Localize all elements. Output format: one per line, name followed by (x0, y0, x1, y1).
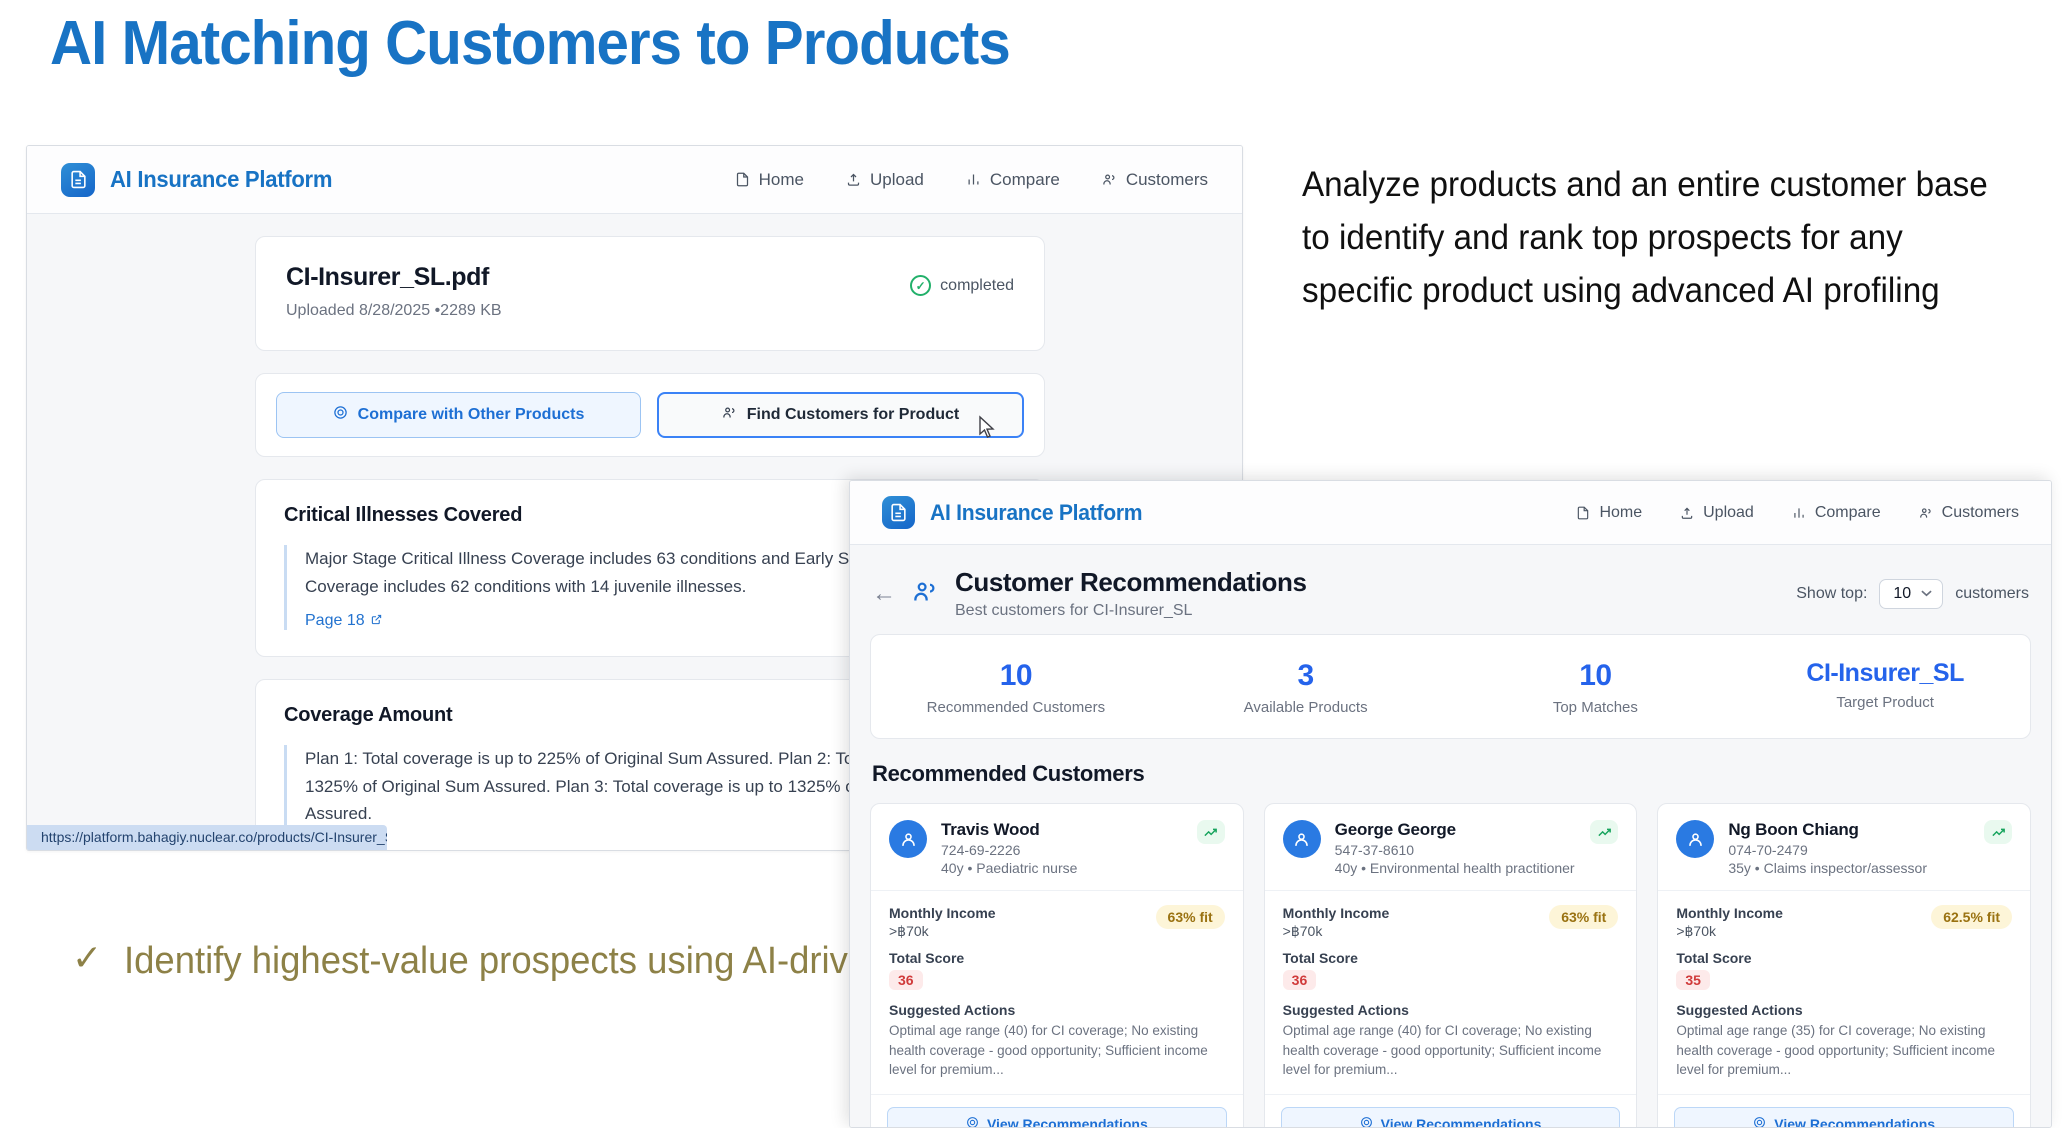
show-top-select[interactable]: 10 (1879, 579, 1943, 609)
mouse-cursor-icon (977, 415, 997, 441)
customer-name: Travis Wood (941, 820, 1183, 840)
compare-with-other-products-button[interactable]: Compare with Other Products (276, 392, 641, 438)
show-top-control: Show top: 10 customers (1796, 579, 2029, 609)
customer-metrics: Monthly Income >฿70k Total Score 36 63% … (1265, 891, 1637, 1002)
stat-value: 10 (1451, 659, 1741, 693)
customer-id: 724-69-2226 (941, 842, 1183, 858)
recommendations-body: ← Customer Recommendations Best customer… (850, 545, 2051, 1127)
app-logo-icon (882, 496, 915, 529)
suggested-actions-body: Optimal age range (35) for CI coverage; … (1676, 1021, 2012, 1080)
customer-name: Ng Boon Chiang (1728, 820, 1970, 840)
suggested-actions-body: Optimal age range (40) for CI coverage; … (1283, 1021, 1619, 1080)
view-recommendations-button[interactable]: View Recommendations (887, 1107, 1227, 1128)
nav-label: Compare (1815, 504, 1881, 522)
customer-identity: George George 547-37-8610 40y • Environm… (1335, 820, 1577, 876)
main-nav: Home Upload Compare Customers (1576, 504, 2019, 522)
score-value: 36 (889, 970, 923, 990)
view-button-label: View Recommendations (987, 1116, 1148, 1128)
customer-card-grid: Travis Wood 724-69-2226 40y • Paediatric… (870, 803, 2031, 1128)
brand[interactable]: AI Insurance Platform (882, 496, 1151, 529)
customer-card-buttons: View Recommendations Create Proposal (871, 1095, 1243, 1128)
customer-metrics: Monthly Income >฿70k Total Score 36 63% … (871, 891, 1243, 1002)
score-value: 35 (1676, 970, 1710, 990)
stat-label: Available Products (1161, 699, 1451, 716)
upload-icon (846, 172, 861, 187)
avatar (1283, 820, 1321, 858)
app-logo-icon (61, 163, 95, 197)
stat-available-products: 3 Available Products (1161, 659, 1451, 716)
customer-suggested-actions: Suggested Actions Optimal age range (40)… (871, 1002, 1243, 1095)
customer-description: 40y • Environmental health practitioner (1335, 860, 1577, 876)
section-title: Critical Illnesses Covered (284, 504, 522, 527)
target-icon (333, 405, 348, 425)
page-link-label: Page 18 (305, 612, 365, 630)
document-file-name: CI-Insurer_SL.pdf (286, 263, 502, 292)
stat-target-product: CI-Insurer_SL Target Product (1740, 659, 2030, 716)
nav-label: Compare (990, 170, 1060, 190)
stat-label: Recommended Customers (871, 699, 1161, 716)
customer-id: 074-70-2479 (1728, 842, 1970, 858)
document-summary-left: CI-Insurer_SL.pdf Uploaded 8/28/2025 •22… (286, 263, 502, 320)
nav-item-home[interactable]: Home (1576, 504, 1642, 522)
customer-card[interactable]: Ng Boon Chiang 074-70-2479 35y • Claims … (1657, 803, 2031, 1128)
upload-icon (1680, 506, 1694, 520)
nav-label: Upload (870, 170, 924, 190)
view-recommendations-button[interactable]: View Recommendations (1281, 1107, 1621, 1128)
slide-description: Analyze products and an entire customer … (1302, 158, 2005, 318)
customer-card-header: Ng Boon Chiang 074-70-2479 35y • Claims … (1658, 804, 2030, 891)
target-icon (1360, 1116, 1373, 1128)
customer-suggested-actions: Suggested Actions Optimal age range (35)… (1658, 1002, 2030, 1095)
fit-badge: 62.5% fit (1931, 905, 2012, 929)
recommendations-title: Customer Recommendations (955, 567, 1307, 598)
check-circle-icon: ✓ (910, 275, 931, 296)
target-icon (1753, 1116, 1766, 1128)
trend-up-icon (1197, 820, 1225, 844)
brand-name: AI Insurance Platform (110, 166, 332, 193)
stat-top-matches: 10 Top Matches (1451, 659, 1741, 716)
customer-card-header: Travis Wood 724-69-2226 40y • Paediatric… (871, 804, 1243, 891)
customer-identity: Ng Boon Chiang 074-70-2479 35y • Claims … (1728, 820, 1970, 876)
people-icon (722, 405, 737, 425)
stat-label: Top Matches (1451, 699, 1741, 716)
customer-card[interactable]: Travis Wood 724-69-2226 40y • Paediatric… (870, 803, 1244, 1128)
customer-identity: Travis Wood 724-69-2226 40y • Paediatric… (941, 820, 1183, 876)
check-icon: ✓ (72, 935, 102, 982)
suggested-actions-body: Optimal age range (40) for CI coverage; … (889, 1021, 1225, 1080)
document-icon (1576, 506, 1590, 520)
score-value: 36 (1283, 970, 1317, 990)
customer-name: George George (1335, 820, 1577, 840)
document-icon (735, 172, 750, 187)
browser-status-bar-url: https://platform.bahagiy.nuclear.co/prod… (27, 825, 387, 850)
document-summary-card: CI-Insurer_SL.pdf Uploaded 8/28/2025 •22… (255, 236, 1045, 351)
people-icon (1102, 172, 1117, 187)
nav-label: Upload (1703, 504, 1754, 522)
compare-button-label: Compare with Other Products (358, 406, 585, 424)
customer-card-buttons: View Recommendations Create Proposal (1658, 1095, 2030, 1128)
stat-value: CI-Insurer_SL (1740, 659, 2030, 688)
nav-item-compare[interactable]: Compare (1792, 504, 1881, 522)
recommendations-subtitle: Best customers for CI-Insurer_SL (955, 602, 1307, 620)
score-label: Total Score (1676, 950, 2012, 966)
customer-suggested-actions: Suggested Actions Optimal age range (40)… (1265, 1002, 1637, 1095)
section-title: Coverage Amount (284, 704, 453, 727)
nav-label: Home (759, 170, 804, 190)
view-recommendations-button[interactable]: View Recommendations (1674, 1107, 2014, 1128)
chevron-down-icon (1921, 588, 1932, 600)
trend-up-icon (1590, 820, 1618, 844)
score-label: Total Score (1283, 950, 1619, 966)
customer-description: 35y • Claims inspector/assessor (1728, 860, 1970, 876)
status-badge-label: completed (940, 277, 1014, 295)
nav-label: Customers (1942, 504, 2019, 522)
main-nav: Home Upload Compare Customers (735, 170, 1208, 190)
app-topbar: AI Insurance Platform Home Upload Compar… (850, 481, 2051, 545)
nav-item-customers[interactable]: Customers (1102, 170, 1208, 190)
stat-label: Target Product (1740, 694, 2030, 711)
stat-value: 10 (871, 659, 1161, 693)
external-link-icon (371, 612, 382, 630)
brand-name: AI Insurance Platform (930, 500, 1142, 526)
show-top-value: 10 (1893, 585, 1911, 603)
customer-card-header: George George 547-37-8610 40y • Environm… (1265, 804, 1637, 891)
document-file-meta: Uploaded 8/28/2025 •2289 KB (286, 302, 502, 320)
recommendations-header-left: ← Customer Recommendations Best customer… (872, 567, 1307, 620)
back-arrow-icon[interactable]: ← (872, 582, 896, 606)
bar-chart-icon (1792, 506, 1806, 520)
recommendations-header: ← Customer Recommendations Best customer… (870, 561, 2031, 634)
document-action-bar: Compare with Other Products Find Custome… (255, 373, 1045, 457)
people-icon (912, 578, 939, 610)
nav-label: Customers (1126, 170, 1208, 190)
customer-card[interactable]: George George 547-37-8610 40y • Environm… (1264, 803, 1638, 1128)
trend-up-icon (1984, 820, 2012, 844)
show-top-label: Show top: (1796, 585, 1867, 603)
score-label: Total Score (889, 950, 1225, 966)
stat-recommended-customers: 10 Recommended Customers (871, 659, 1161, 716)
customer-metrics: Monthly Income >฿70k Total Score 35 62.5… (1658, 891, 2030, 1002)
nav-item-compare[interactable]: Compare (966, 170, 1060, 190)
stats-summary-bar: 10 Recommended Customers 3 Available Pro… (870, 634, 2031, 739)
show-top-suffix: customers (1955, 585, 2029, 603)
nav-label: Home (1599, 504, 1642, 522)
app-topbar: AI Insurance Platform Home Upload Compar… (27, 146, 1242, 214)
find-customers-button-label: Find Customers for Product (747, 406, 959, 424)
customer-description: 40y • Paediatric nurse (941, 860, 1183, 876)
view-button-label: View Recommendations (1381, 1116, 1542, 1128)
find-customers-for-product-button[interactable]: Find Customers for Product (657, 392, 1024, 438)
brand[interactable]: AI Insurance Platform (61, 163, 341, 197)
view-button-label: View Recommendations (1774, 1116, 1935, 1128)
stat-value: 3 (1161, 659, 1451, 693)
status-badge: ✓ completed (910, 275, 1014, 296)
avatar (889, 820, 927, 858)
bar-chart-icon (966, 172, 981, 187)
people-icon (1919, 506, 1933, 520)
fit-badge: 63% fit (1156, 905, 1225, 929)
suggested-actions-title: Suggested Actions (1676, 1002, 2012, 1018)
nav-item-home[interactable]: Home (735, 170, 804, 190)
target-icon (966, 1116, 979, 1128)
fit-badge: 63% fit (1549, 905, 1618, 929)
recommended-customers-heading: Recommended Customers (872, 761, 2031, 787)
suggested-actions-title: Suggested Actions (1283, 1002, 1619, 1018)
customer-card-buttons: View Recommendations Create Proposal (1265, 1095, 1637, 1128)
nav-item-customers[interactable]: Customers (1919, 504, 2019, 522)
recommendations-title-block: Customer Recommendations Best customers … (955, 567, 1307, 620)
customer-id: 547-37-8610 (1335, 842, 1577, 858)
recommendations-window: AI Insurance Platform Home Upload Compar… (849, 480, 2052, 1128)
suggested-actions-title: Suggested Actions (889, 1002, 1225, 1018)
nav-item-upload[interactable]: Upload (1680, 504, 1754, 522)
avatar (1676, 820, 1714, 858)
nav-item-upload[interactable]: Upload (846, 170, 924, 190)
page-title: AI Matching Customers to Products (50, 8, 1010, 79)
